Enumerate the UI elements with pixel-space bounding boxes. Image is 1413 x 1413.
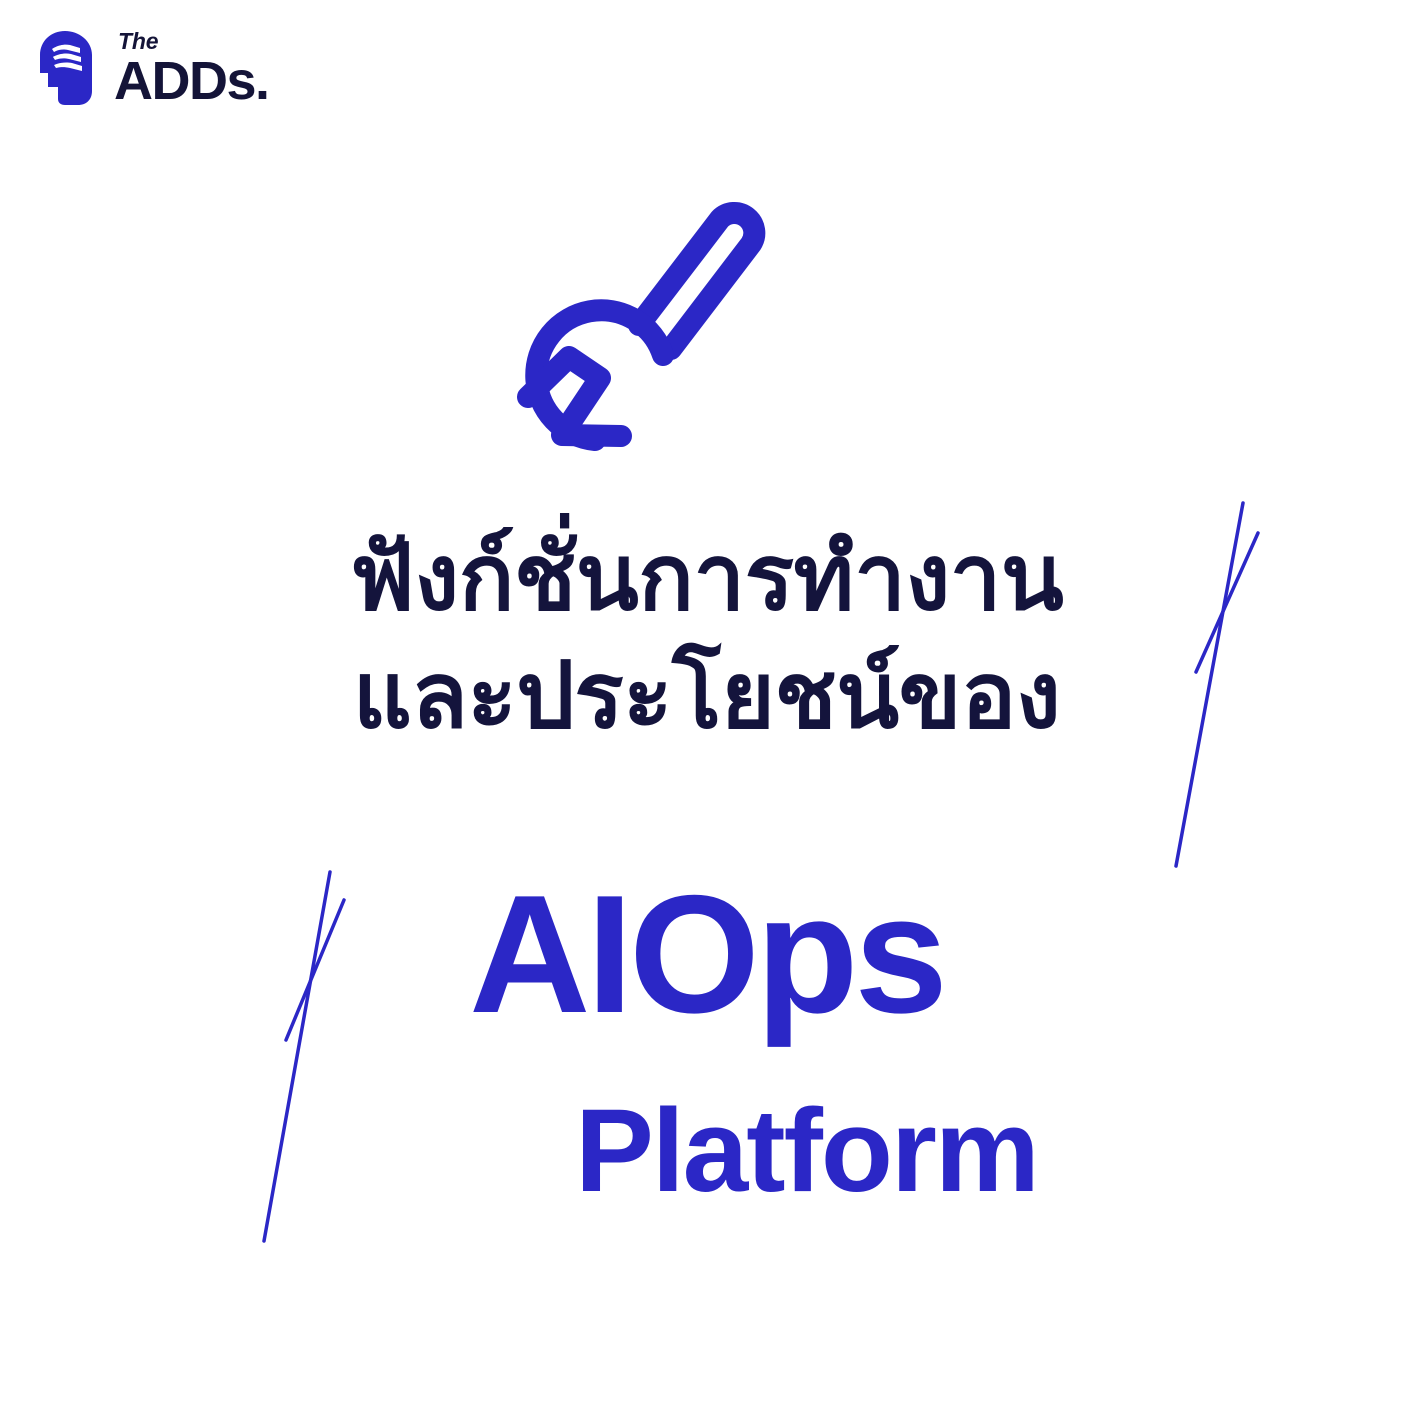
brand-wordmark: The ADDs. bbox=[114, 30, 269, 108]
brand-logo[interactable]: The ADDs. bbox=[34, 28, 269, 108]
title-sub: Platform bbox=[0, 1092, 1413, 1210]
headline-line-1: ฟังก์ชั่นการทำงาน bbox=[0, 520, 1413, 638]
wrench-icon bbox=[487, 192, 787, 492]
product-title: AIOps Platform bbox=[0, 870, 1413, 1038]
headline-line-2: และประโยชน์ของ bbox=[0, 638, 1413, 756]
headline: ฟังก์ชั่นการทำงาน และประโยชน์ของ bbox=[0, 520, 1413, 756]
title-main: AIOps bbox=[0, 870, 1413, 1038]
poster-canvas: The ADDs. ฟังก์ชั่นการทำงาน และประโยชน์ข… bbox=[0, 0, 1413, 1413]
brand-prefix: The bbox=[118, 30, 269, 53]
brand-name: ADDs. bbox=[114, 54, 269, 108]
head-profile-brain-icon bbox=[34, 29, 100, 107]
